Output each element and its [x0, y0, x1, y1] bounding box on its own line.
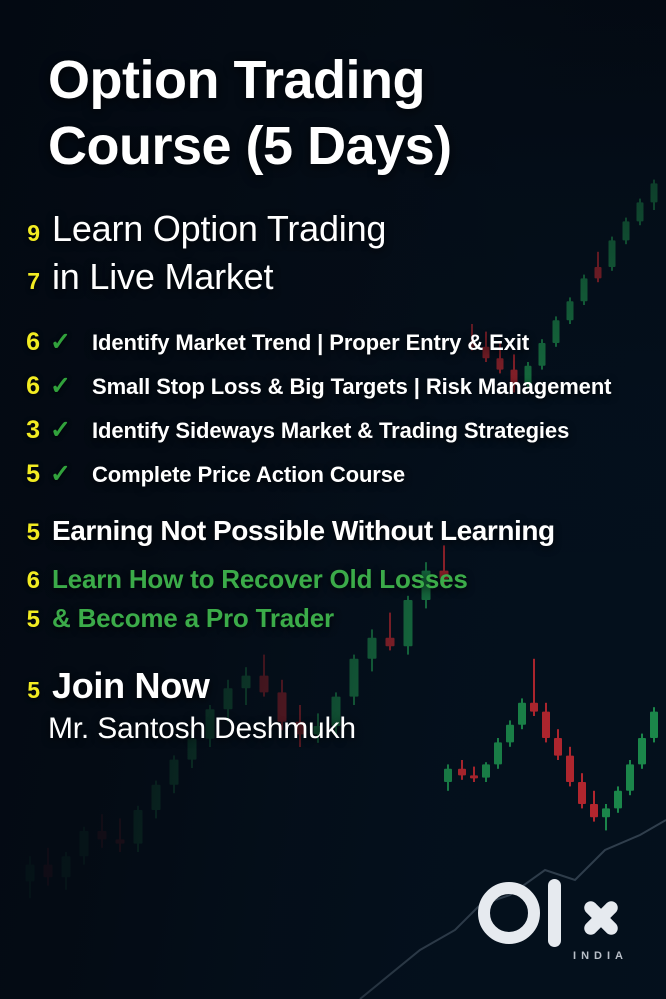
phone-digit: 6 [0, 372, 40, 401]
promo-poster: Option Trading Course (5 Days) 9 Learn O… [0, 0, 666, 999]
phone-digit: 9 [0, 220, 40, 247]
headline-text: in Live Market [52, 256, 273, 298]
check-icon: ✓ [50, 462, 92, 487]
olx-logo: INDIA [478, 877, 634, 961]
highlight-text: & Become a Pro Trader [52, 603, 334, 634]
headline-text: Learn Option Trading [52, 208, 386, 250]
phone-digit: 3 [0, 416, 40, 445]
tagline-row: 5 Earning Not Possible Without Learning [0, 515, 666, 547]
phone-digit: 6 [0, 328, 40, 357]
feature-row: 6 ✓ Identify Market Trend | Proper Entry… [0, 328, 666, 357]
title-line-2: Course (5 Days) [48, 114, 628, 180]
highlight-row-2: 5 & Become a Pro Trader [0, 603, 666, 634]
headline-row-1: 9 Learn Option Trading [0, 208, 666, 250]
check-icon: ✓ [50, 374, 92, 399]
feature-text: Complete Price Action Course [92, 462, 405, 488]
olx-wordmark-icon [478, 877, 634, 947]
highlight-text: Learn How to Recover Old Losses [52, 564, 468, 595]
check-icon: ✓ [50, 330, 92, 355]
phone-digit: 6 [0, 567, 40, 595]
feature-text: Small Stop Loss & Big Targets | Risk Man… [92, 374, 611, 400]
presenter-name: Mr. Santosh Deshmukh [48, 712, 356, 746]
phone-digit: 5 [0, 519, 40, 547]
page-title: Option Trading Course (5 Days) [48, 48, 628, 180]
headline-row-2: 7 in Live Market [0, 256, 666, 298]
feature-text: Identify Market Trend | Proper Entry & E… [92, 330, 529, 356]
logo-region-label: INDIA [573, 950, 628, 962]
phone-digit: 5 [0, 460, 40, 489]
call-to-action-row[interactable]: 5 Join Now [0, 665, 666, 707]
phone-digit: 5 [0, 606, 40, 634]
join-now-label[interactable]: Join Now [52, 665, 210, 707]
feature-row: 5 ✓ Complete Price Action Course [0, 460, 666, 489]
phone-digit: 5 [0, 677, 40, 704]
poster-content: Option Trading Course (5 Days) 9 Learn O… [0, 0, 666, 999]
highlight-row-1: 6 Learn How to Recover Old Losses [0, 564, 666, 595]
feature-row: 3 ✓ Identify Sideways Market & Trading S… [0, 416, 666, 445]
tagline-text: Earning Not Possible Without Learning [52, 515, 555, 547]
phone-digit: 7 [0, 268, 40, 295]
title-line-1: Option Trading [48, 48, 628, 114]
feature-row: 6 ✓ Small Stop Loss & Big Targets | Risk… [0, 372, 666, 401]
check-icon: ✓ [50, 418, 92, 443]
feature-text: Identify Sideways Market & Trading Strat… [92, 418, 569, 444]
